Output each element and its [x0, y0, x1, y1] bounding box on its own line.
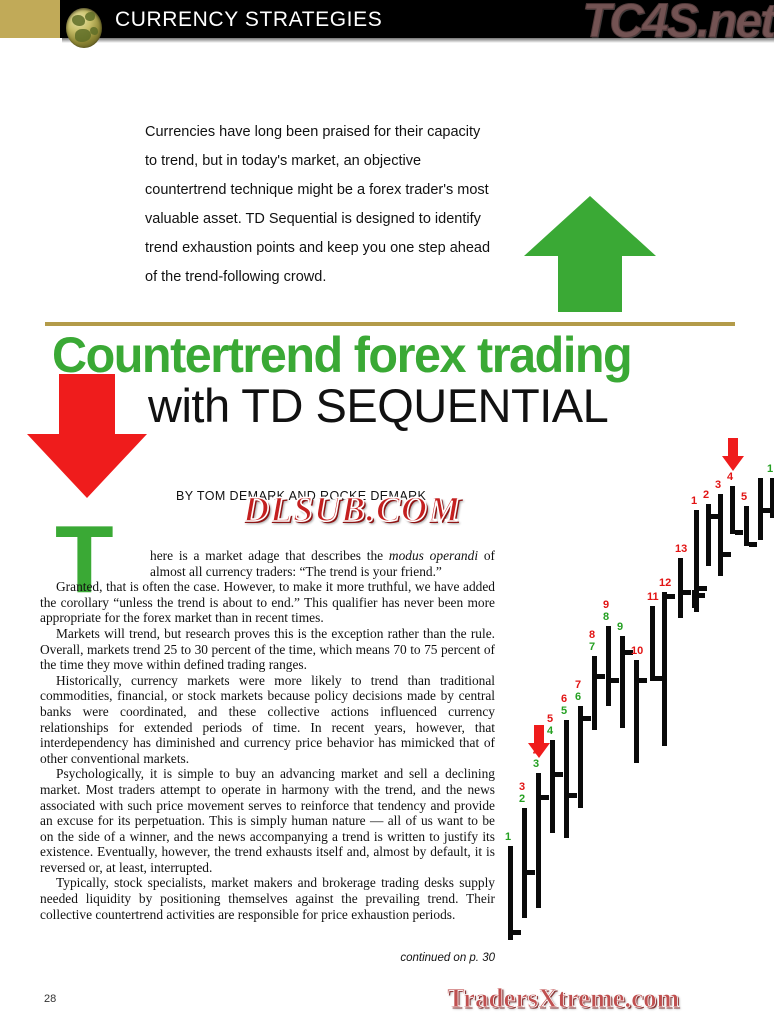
countdown-label: 2	[703, 490, 709, 501]
close-tick	[667, 594, 675, 599]
price-bar	[718, 494, 723, 576]
body-paragraph-2: Granted, that is often the case. However…	[40, 579, 495, 626]
setup-count-label: 1	[505, 832, 511, 843]
close-tick	[555, 772, 563, 777]
continued-note: continued on p. 30	[40, 952, 495, 964]
price-bar	[564, 720, 569, 838]
body-paragraph-3: Markets will trend, but research proves …	[40, 626, 495, 673]
red-down-arrow-icon	[25, 372, 149, 500]
countdown-label: 7	[575, 680, 581, 691]
setup-count-label: 6	[575, 692, 581, 703]
close-tick	[749, 542, 757, 547]
price-bar	[770, 478, 774, 518]
magazine-page: CURRENCY STRATEGIES TC4S.net Currencies …	[0, 0, 774, 1024]
price-bar	[650, 606, 655, 681]
setup-count-label: 5	[561, 706, 567, 717]
price-bar	[678, 558, 683, 618]
setup-count-label: 3	[533, 759, 539, 770]
close-tick	[527, 870, 535, 875]
countdown-label: 4	[727, 472, 733, 483]
countdown-label: 10	[631, 646, 643, 657]
close-tick	[683, 590, 691, 595]
globe-icon	[66, 8, 102, 48]
price-bar	[730, 486, 735, 534]
price-bar	[592, 656, 597, 730]
setup-count-label: 7	[589, 642, 595, 653]
body-paragraph-5: Psychologically, it is simple to buy an …	[40, 766, 495, 875]
section-title: CURRENCY STRATEGIES	[115, 8, 382, 32]
countdown-label: 3	[715, 480, 721, 491]
countdown-label: 12	[659, 578, 671, 589]
body-paragraph-6: Typically, stock specialists, market mak…	[40, 875, 495, 922]
price-bar	[578, 706, 583, 808]
countdown-label: 13	[675, 544, 687, 555]
close-tick	[723, 552, 731, 557]
close-tick	[735, 530, 743, 535]
close-tick	[541, 795, 549, 800]
setup-count-label: 9	[617, 622, 623, 633]
price-bar	[744, 506, 749, 546]
countdown-label: 8	[589, 630, 595, 641]
page-number: 28	[44, 993, 56, 1005]
setup-count-label: 2	[519, 794, 525, 805]
price-bar	[508, 846, 513, 940]
intro-blurb: Currencies have long been praised for th…	[145, 118, 495, 292]
para1-italic: modus operandi	[389, 548, 478, 563]
price-bar	[634, 660, 639, 763]
td-sequential-chart: 123344556677889910111213123451	[500, 478, 774, 968]
para1-lead: here is a market adage that describes th…	[150, 548, 389, 563]
setup-count-label: 8	[603, 612, 609, 623]
countdown-label: 5	[741, 492, 747, 503]
close-tick	[569, 793, 577, 798]
close-tick	[611, 678, 619, 683]
price-bar	[536, 773, 541, 908]
price-bar	[662, 592, 667, 746]
watermark-tc4s: TC4S.net	[582, 0, 774, 49]
countdown-label: 5	[547, 714, 553, 725]
countdown-label: 11	[647, 592, 659, 603]
price-bar	[606, 626, 611, 706]
watermark-tradersxtreme: TradersXtreme.com	[447, 983, 679, 1014]
watermark-dlsub: DLSUB.COM	[243, 488, 461, 530]
countdown-label: 1	[691, 496, 697, 507]
body-paragraph-4: Historically, currency markets were more…	[40, 673, 495, 767]
page-title-line2: with TD SEQUENTIAL	[148, 378, 608, 433]
close-tick	[699, 586, 707, 591]
close-tick	[513, 930, 521, 935]
close-tick	[639, 678, 647, 683]
countdown-label: 6	[561, 694, 567, 705]
price-bar	[694, 510, 699, 612]
setup-count-label: 1	[767, 464, 773, 475]
article-body: here is a market adage that describes th…	[40, 548, 495, 922]
close-tick	[583, 716, 591, 721]
body-paragraph-1: here is a market adage that describes th…	[40, 548, 495, 579]
price-bar	[522, 808, 527, 918]
close-tick	[597, 674, 605, 679]
sell-exhaustion-arrow-lower	[527, 725, 551, 759]
sell-exhaustion-arrow-upper	[721, 438, 745, 472]
countdown-label: 9	[603, 600, 609, 611]
green-up-arrow-icon	[522, 192, 658, 314]
countdown-label: 3	[519, 782, 525, 793]
